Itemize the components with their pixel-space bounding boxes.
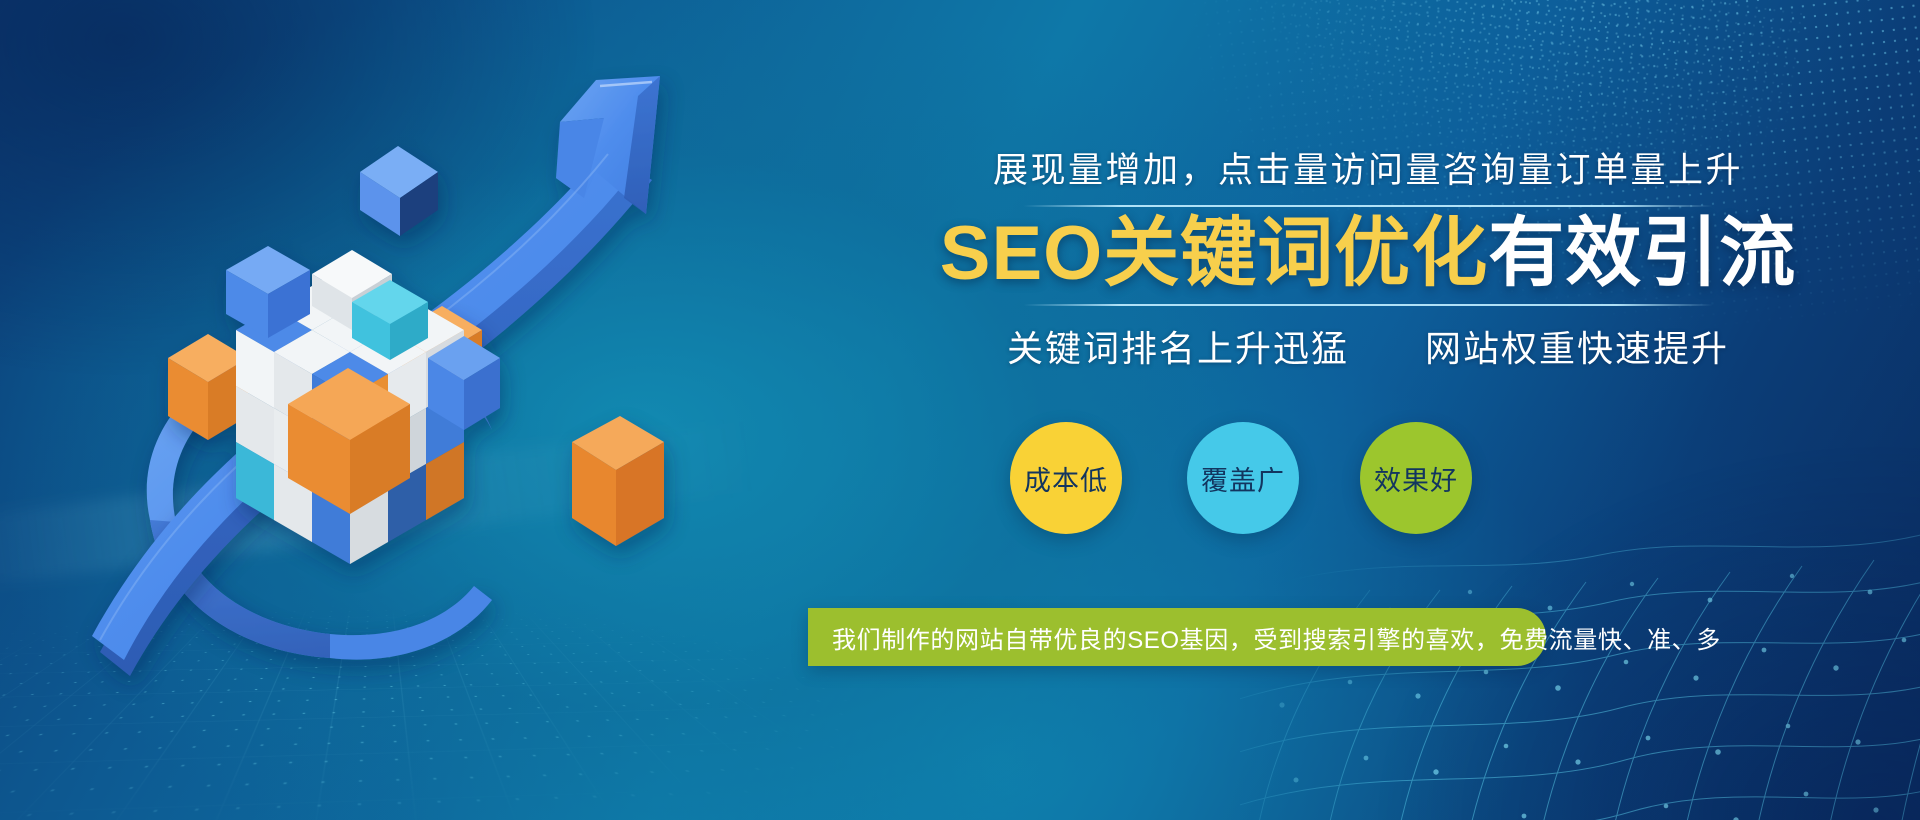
feature-badge-effect[interactable]: 效果好: [1360, 422, 1472, 534]
feature-badge-cost-label: 成本低: [1024, 459, 1108, 498]
feature-badge-coverage-label: 覆盖广: [1201, 459, 1285, 498]
divider-top: [1023, 205, 1713, 207]
feature-badges: 成本低 覆盖广 效果好: [952, 412, 1592, 550]
feature-badge-effect-label: 效果好: [1374, 459, 1458, 498]
subtitle-bottom: 关键词排名上升迅猛 网站权重快速提升: [868, 320, 1868, 372]
feature-badge-coverage[interactable]: 覆盖广: [1187, 422, 1299, 534]
promo-bar: 我们制作的网站自带优良的SEO基因，受到搜索引擎的喜欢，免费流量快、准、多: [808, 608, 1546, 666]
hero-illustration: [0, 0, 760, 820]
feature-badge-cost[interactable]: 成本低: [1010, 422, 1122, 534]
divider-bottom: [1023, 304, 1713, 306]
page-title: SEO关键词优化有效引流: [868, 213, 1868, 295]
promo-bar-text: 我们制作的网站自带优良的SEO基因，受到搜索引擎的喜欢，免费流量快、准、多: [808, 620, 1721, 655]
floating-orange-cube-icon: [572, 416, 664, 546]
floating-blue-cube-icon: [360, 146, 438, 236]
headline-gold-part: SEO关键词优化: [940, 211, 1489, 296]
seo-marketing-banner: 展现量增加，点击量访问量咨询量订单量上升 SEO关键词优化有效引流 关键词排名上…: [0, 0, 1920, 820]
subtitle-top: 展现量增加，点击量访问量咨询量订单量上升: [868, 150, 1868, 192]
headline-white-part: 有效引流: [1488, 211, 1796, 296]
headline-copy-block: 展现量增加，点击量访问量咨询量订单量上升 SEO关键词优化有效引流 关键词排名上…: [868, 150, 1868, 372]
